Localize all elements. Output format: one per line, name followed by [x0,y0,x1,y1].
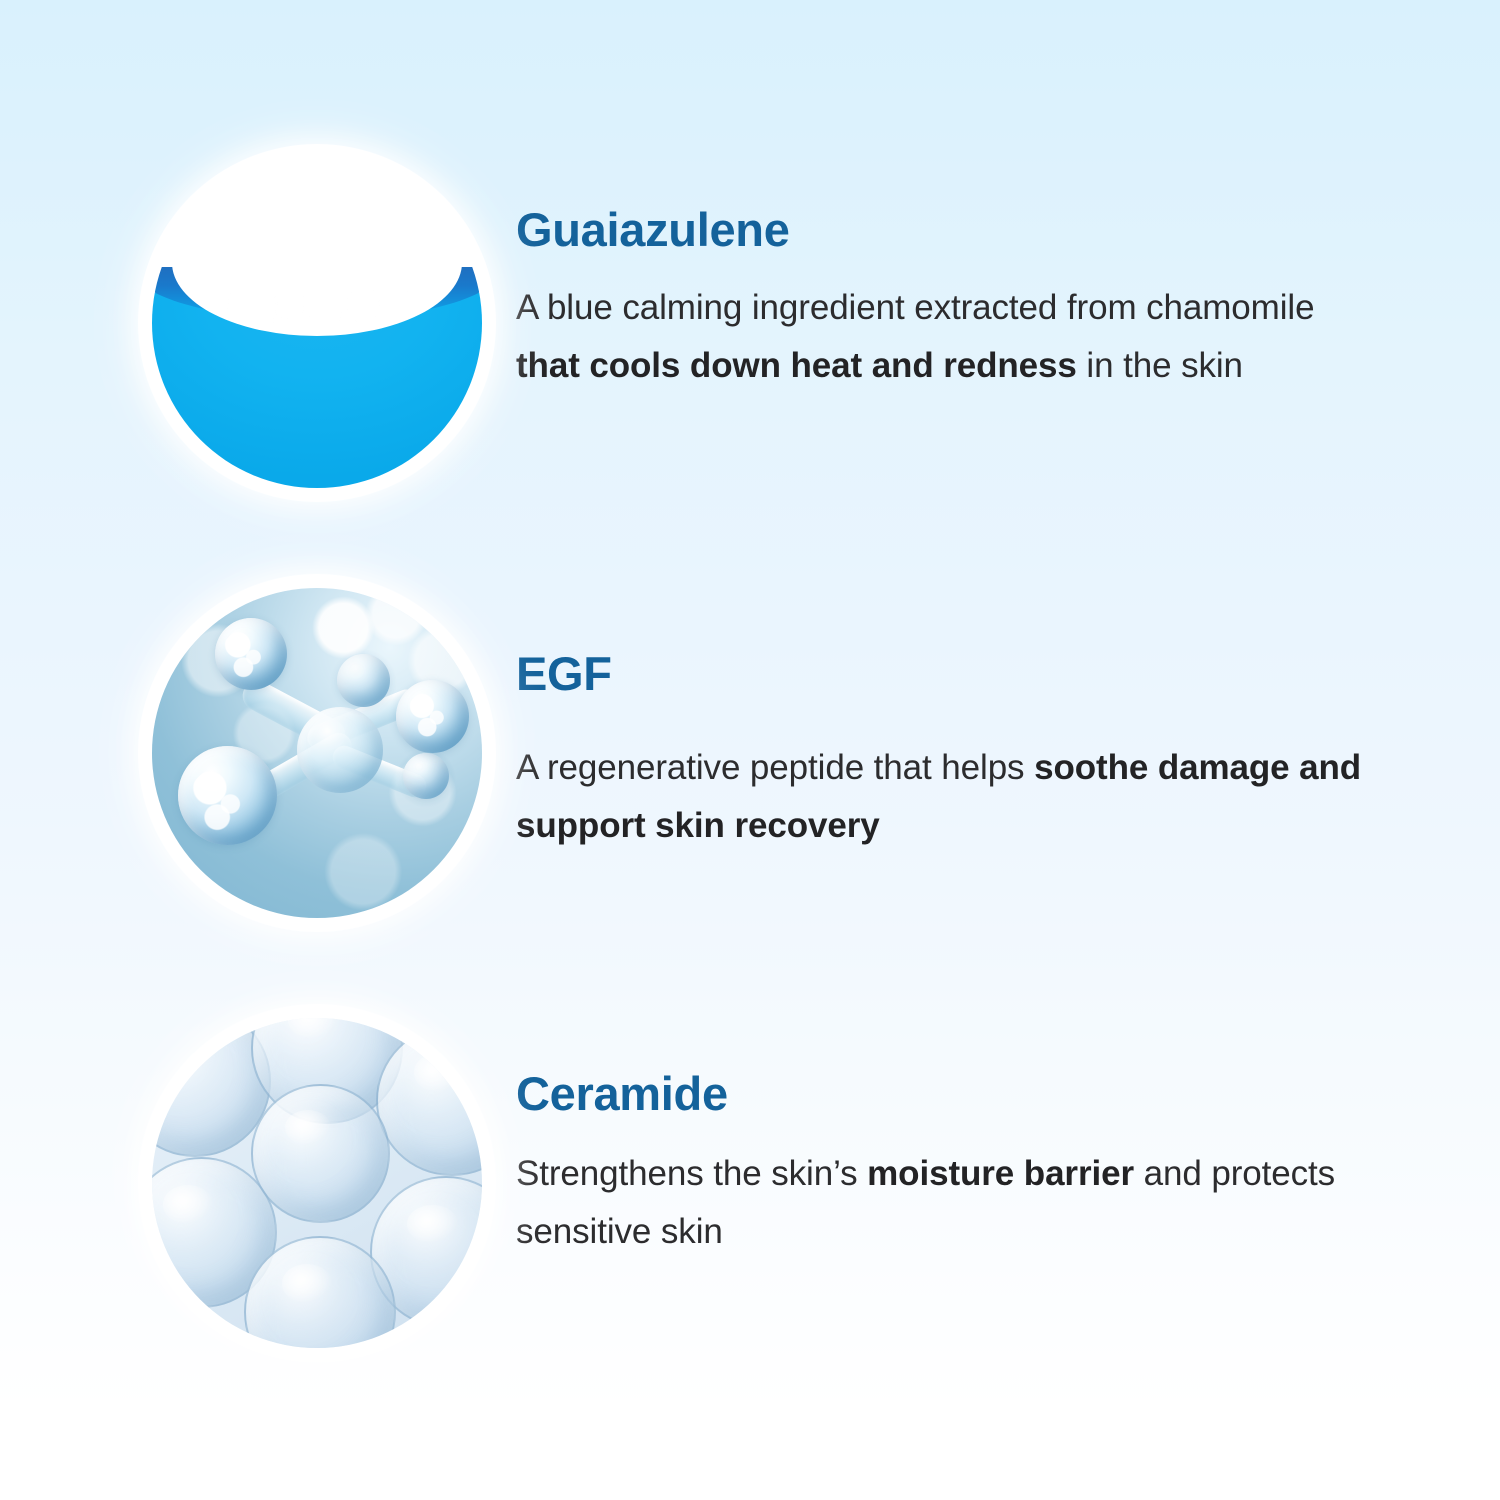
ingredient-row-ceramide: Ceramide Strengthens the skin’s moisture… [0,1008,1500,1368]
desc-part-plain-2: in the skin [1077,346,1243,385]
ingredient-heading: Guaiazulene [516,206,1370,253]
ingredient-description: A blue calming ingredient extracted from… [516,279,1370,395]
water-surface-image [152,158,482,488]
molecule-atom-sparkle [188,766,261,839]
ingredient-infographic: Guaiazulene A blue calming ingredient ex… [0,0,1500,1500]
ingredient-heading: EGF [516,650,1370,697]
molecule-atom-sparkle [406,690,459,743]
ingredient-row-guaiazulene: Guaiazulene A blue calming ingredient ex… [0,148,1500,508]
desc-part-bold-1: moisture barrier [867,1154,1134,1193]
desc-part-plain-1: Strengthens the skin’s [516,1154,867,1193]
molecule-center-node [297,707,383,793]
molecule-atom-sparkle [221,628,277,684]
desc-part-plain-1: A regenerative peptide that helps [516,748,1034,787]
ingredient-description: Strengthens the skin’s moisture barrier … [516,1145,1370,1261]
ingredient-heading: Ceramide [516,1070,1370,1117]
desc-part-bold-1: that cools down heat and redness [516,346,1077,385]
text-block-egf: EGF A regenerative peptide that helps so… [490,578,1370,855]
molecule-atom [337,654,390,707]
bubble-sphere-center [251,1084,390,1223]
ingredient-description: A regenerative peptide that helps soothe… [516,739,1370,855]
text-block-ceramide: Ceramide Strengthens the skin’s moisture… [490,1008,1370,1261]
media-wrap-egf [130,578,490,938]
media-wrap-ceramide [130,1008,490,1368]
molecule-image [152,588,482,918]
desc-part-plain-1: A blue calming ingredient extracted from… [516,288,1314,327]
ingredient-row-egf: EGF A regenerative peptide that helps so… [0,578,1500,938]
bubbles-image [152,1018,482,1348]
molecule-atom [403,753,449,799]
text-block-guaiazulene: Guaiazulene A blue calming ingredient ex… [490,148,1370,395]
media-wrap-guaiazulene [130,148,490,508]
